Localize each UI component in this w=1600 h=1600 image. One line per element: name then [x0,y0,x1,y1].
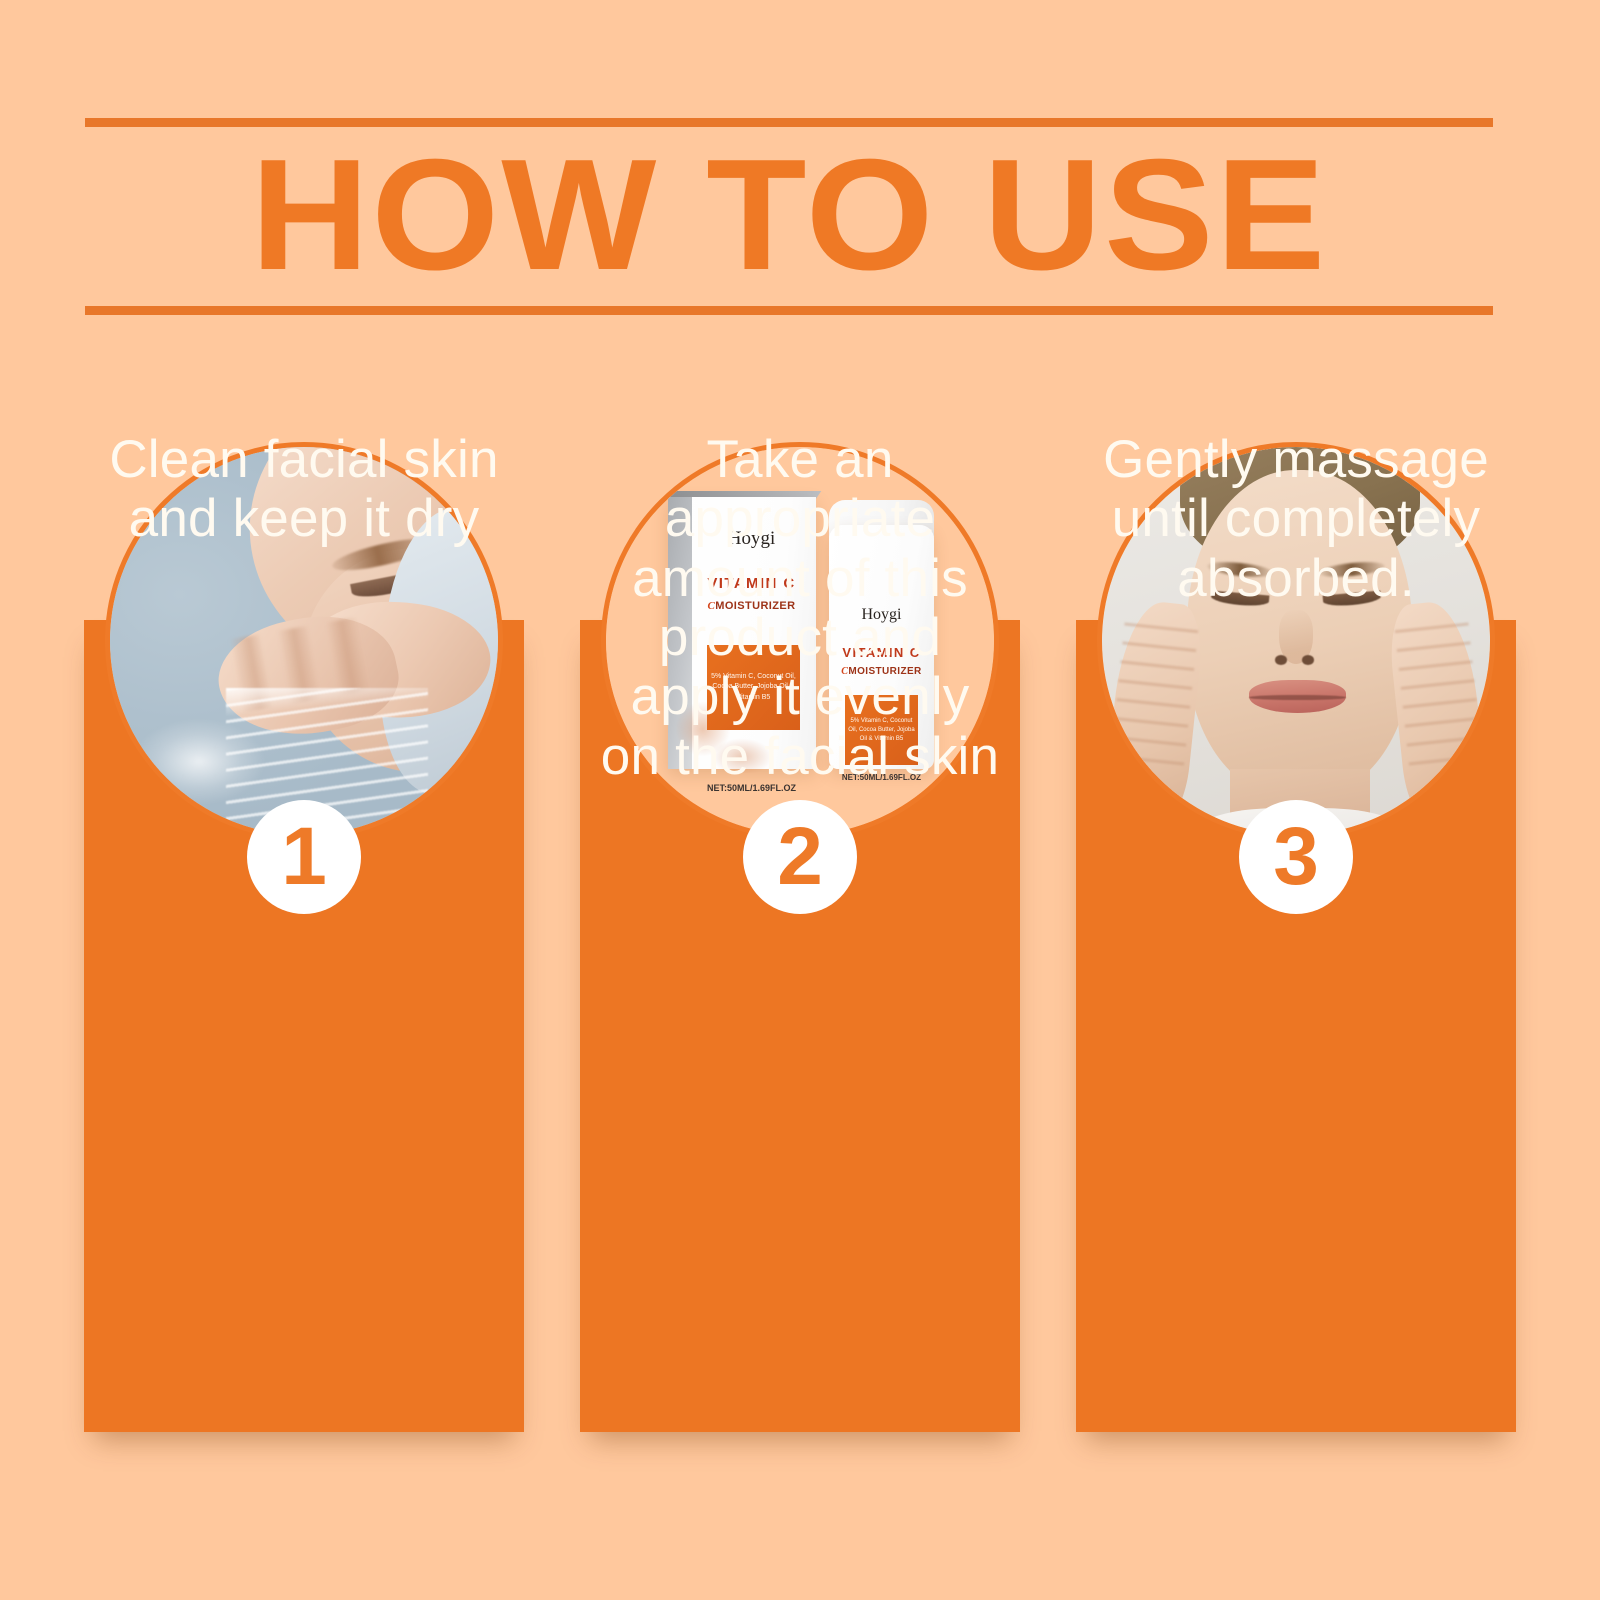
step-3-caption: Gently massage until completely absorbed… [1094,430,1499,608]
steps-container: 1 Clean facial skin and keep it dry Hoyg… [0,430,1600,1460]
title-rule-bottom [85,306,1493,315]
step-3-number-badge: 3 [1239,800,1353,914]
page-title: HOW TO USE [57,135,1521,296]
step-card-3: 3 Gently massage until completely absorb… [1076,430,1516,1442]
step-2-number-badge: 2 [743,800,857,914]
header: HOW TO USE [85,118,1493,315]
step-1-number-badge: 1 [247,800,361,914]
step-1-caption: Clean facial skin and keep it dry [102,430,507,549]
step-card-2: Hoygi VITAMIN C CMOISTURIZER 5% Vitamin … [580,430,1020,1442]
step-card-1: 1 Clean facial skin and keep it dry [84,430,524,1442]
title-rule-top [85,118,1493,127]
step-2-caption: Take an appropriate amount of this produ… [598,430,1003,786]
